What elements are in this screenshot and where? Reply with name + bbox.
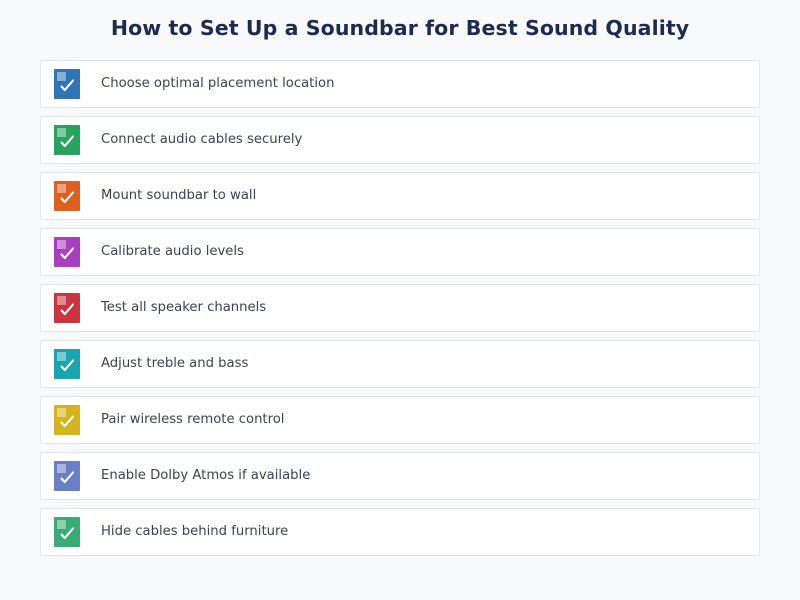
checklist-item-label: Hide cables behind furniture (101, 523, 288, 541)
check-mark-icon (54, 69, 80, 99)
checklist-item-label: Mount soundbar to wall (101, 187, 256, 205)
checkbox-checked-icon[interactable] (54, 293, 80, 323)
checklist-item-label: Connect audio cables securely (101, 131, 302, 149)
checklist-item-label: Pair wireless remote control (101, 411, 284, 429)
checkbox-checked-icon[interactable] (54, 461, 80, 491)
checklist-item[interactable]: Calibrate audio levels (40, 228, 760, 276)
checklist-item-label: Choose optimal placement location (101, 75, 334, 93)
check-mark-icon (54, 405, 80, 435)
checklist-item[interactable]: Test all speaker channels (40, 284, 760, 332)
checklist-page: How to Set Up a Soundbar for Best Sound … (0, 0, 800, 600)
checklist-item[interactable]: Adjust treble and bass (40, 340, 760, 388)
check-mark-icon (54, 349, 80, 379)
checkbox-checked-icon[interactable] (54, 237, 80, 267)
checklist-item[interactable]: Connect audio cables securely (40, 116, 760, 164)
checkbox-checked-icon[interactable] (54, 517, 80, 547)
check-mark-icon (54, 181, 80, 211)
checklist-item-label: Enable Dolby Atmos if available (101, 467, 310, 485)
checkbox-checked-icon[interactable] (54, 69, 80, 99)
checklist-item-label: Calibrate audio levels (101, 243, 244, 261)
checklist-item[interactable]: Mount soundbar to wall (40, 172, 760, 220)
check-mark-icon (54, 125, 80, 155)
checklist-item-label: Test all speaker channels (101, 299, 266, 317)
check-mark-icon (54, 461, 80, 491)
checklist: Choose optimal placement locationConnect… (40, 60, 760, 556)
checkbox-checked-icon[interactable] (54, 181, 80, 211)
checkbox-checked-icon[interactable] (54, 405, 80, 435)
checklist-item[interactable]: Choose optimal placement location (40, 60, 760, 108)
check-mark-icon (54, 293, 80, 323)
check-mark-icon (54, 237, 80, 267)
page-title: How to Set Up a Soundbar for Best Sound … (0, 14, 800, 42)
checklist-item[interactable]: Pair wireless remote control (40, 396, 760, 444)
check-mark-icon (54, 517, 80, 547)
checkbox-checked-icon[interactable] (54, 125, 80, 155)
checkbox-checked-icon[interactable] (54, 349, 80, 379)
checklist-item[interactable]: Enable Dolby Atmos if available (40, 452, 760, 500)
checklist-item[interactable]: Hide cables behind furniture (40, 508, 760, 556)
checklist-item-label: Adjust treble and bass (101, 355, 248, 373)
